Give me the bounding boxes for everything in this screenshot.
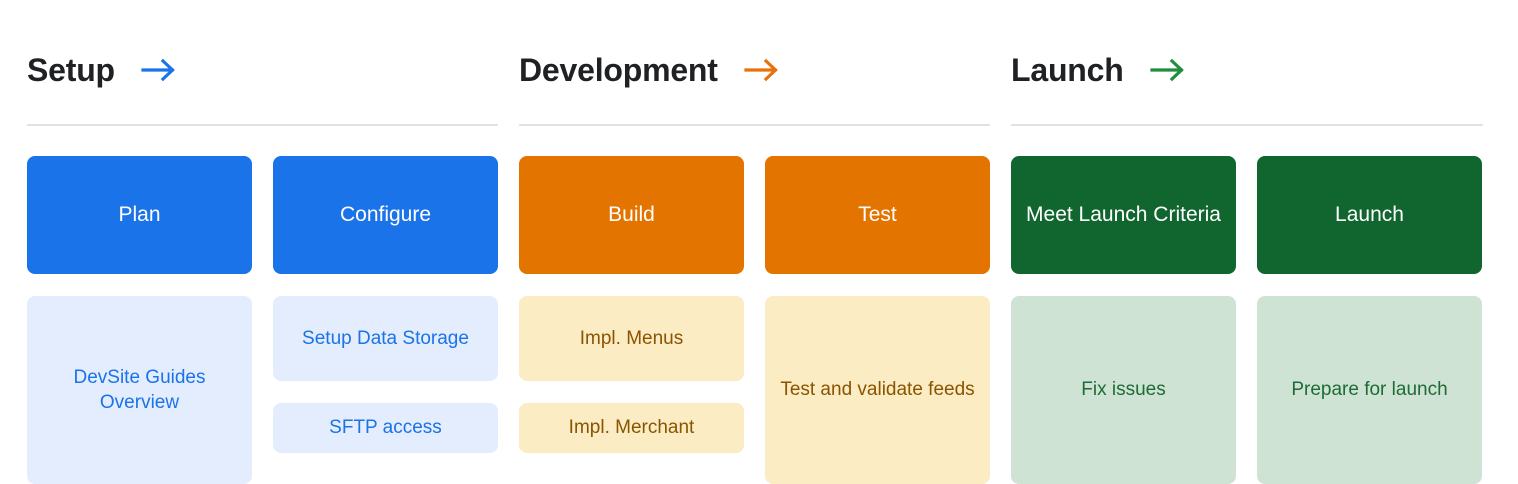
arrow-right-icon: [744, 57, 782, 83]
subtask-card[interactable]: Impl. Merchant: [519, 403, 744, 453]
track-row-development: Build Impl. Menus Impl. Merchant Test Te…: [519, 156, 990, 484]
phase-header-launch: Launch: [1011, 0, 1483, 126]
phase-column-launch: Launch Meet Launch Criteria Fix issues L…: [1011, 0, 1483, 484]
subtask-list-meet-launch-criteria: Fix issues: [1011, 296, 1236, 484]
phase-header-development: Development: [519, 0, 990, 126]
track-build: Build Impl. Menus Impl. Merchant: [519, 156, 744, 484]
track-meet-launch-criteria: Meet Launch Criteria Fix issues: [1011, 156, 1236, 484]
arrow-right-icon: [1150, 57, 1188, 83]
phase-title: Setup: [27, 54, 115, 86]
subtask-card[interactable]: Prepare for launch: [1257, 296, 1482, 484]
subtask-card[interactable]: Test and validate feeds: [765, 296, 990, 484]
track-test: Test Test and validate feeds: [765, 156, 990, 484]
stage-card-configure[interactable]: Configure: [273, 156, 498, 274]
roadmap-board: Setup Plan DevSite Guides Overview Confi…: [0, 0, 1518, 484]
phase-divider: [27, 124, 498, 126]
subtask-card[interactable]: SFTP access: [273, 403, 498, 453]
track-configure: Configure Setup Data Storage SFTP access: [273, 156, 498, 484]
phase-column-setup: Setup Plan DevSite Guides Overview Confi…: [27, 0, 498, 484]
phase-header-setup: Setup: [27, 0, 498, 126]
stage-card-plan[interactable]: Plan: [27, 156, 252, 274]
phase-title: Launch: [1011, 54, 1124, 86]
subtask-list-test: Test and validate feeds: [765, 296, 990, 484]
subtask-card[interactable]: Impl. Menus: [519, 296, 744, 381]
stage-card-launch[interactable]: Launch: [1257, 156, 1482, 274]
phase-column-development: Development Build Impl. Menus Impl. Merc…: [519, 0, 990, 484]
track-launch: Launch Prepare for launch: [1257, 156, 1482, 484]
subtask-card[interactable]: Setup Data Storage: [273, 296, 498, 381]
subtask-card[interactable]: Fix issues: [1011, 296, 1236, 484]
phase-divider: [519, 124, 990, 126]
stage-card-build[interactable]: Build: [519, 156, 744, 274]
stage-card-meet-launch-criteria[interactable]: Meet Launch Criteria: [1011, 156, 1236, 274]
subtask-list-build: Impl. Menus Impl. Merchant: [519, 296, 744, 484]
subtask-list-plan: DevSite Guides Overview: [27, 296, 252, 484]
track-plan: Plan DevSite Guides Overview: [27, 156, 252, 484]
track-row-launch: Meet Launch Criteria Fix issues Launch P…: [1011, 156, 1483, 484]
arrow-right-icon: [141, 57, 179, 83]
phase-divider: [1011, 124, 1483, 126]
phase-title: Development: [519, 54, 718, 86]
track-row-setup: Plan DevSite Guides Overview Configure S…: [27, 156, 498, 484]
stage-card-test[interactable]: Test: [765, 156, 990, 274]
subtask-list-configure: Setup Data Storage SFTP access: [273, 296, 498, 484]
subtask-list-launch: Prepare for launch: [1257, 296, 1482, 484]
subtask-card[interactable]: DevSite Guides Overview: [27, 296, 252, 484]
